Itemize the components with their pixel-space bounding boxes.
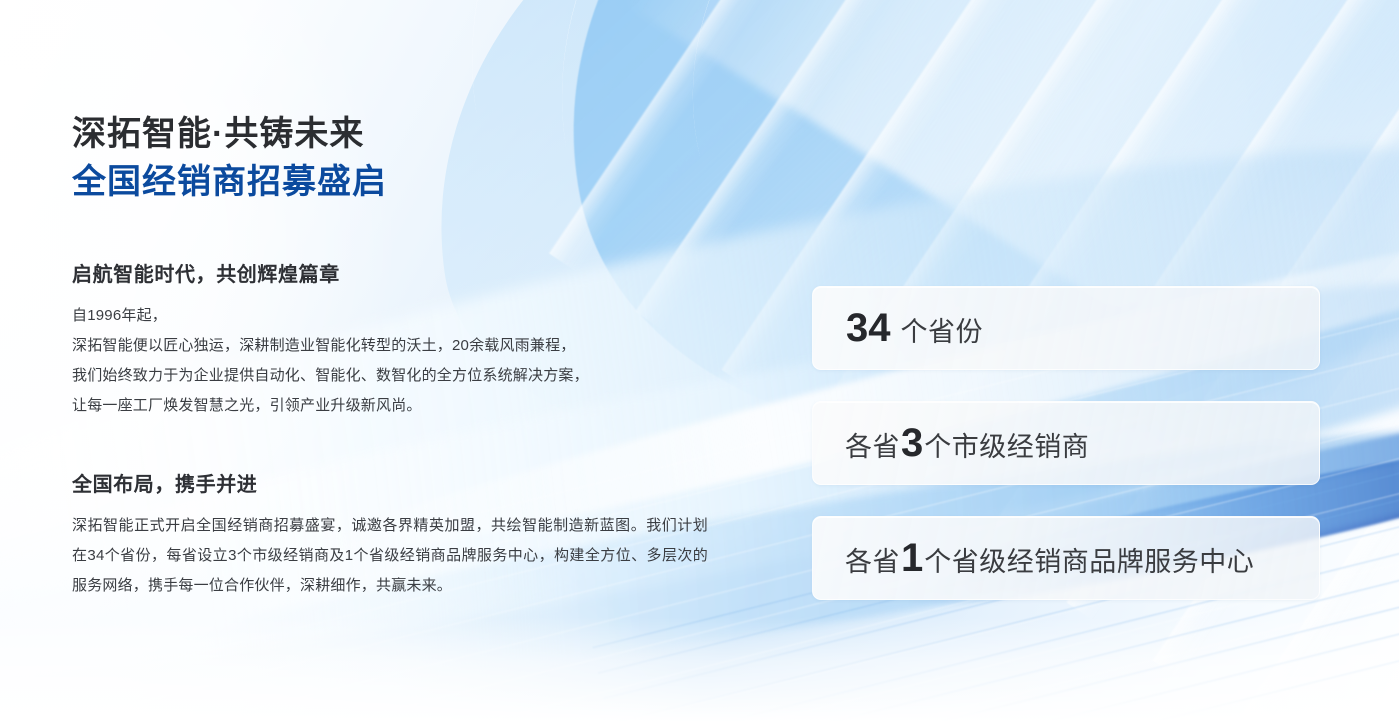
stat-tail-provinces: 个省份 (901, 310, 984, 349)
stat-text-city-dealers: 各省 3 个市级经销商 (845, 421, 1089, 466)
section-network-paragraph: 深拓智能正式开启全国经销商招募盛宴，诚邀各界精英加盟，共绘智能制造新蓝图。我们计… (72, 511, 708, 601)
stat-card-province-service-center: 各省 1 个省级经销商品牌服务中心 (812, 516, 1320, 600)
stat-lead-province-service-center: 各省 (845, 540, 900, 579)
section-network-title: 全国布局，携手并进 (72, 468, 708, 497)
headline-line-1: 深拓智能·共铸未来 (72, 113, 387, 157)
section-about: 启航智能时代，共创辉煌篇章 自1996年起， 深拓智能便以匠心独运，深耕制造业智… (72, 258, 589, 421)
stat-card-list: 34 个省份 各省 3 个市级经销商 各省 1 个省级经销商品牌服务中心 (812, 286, 1320, 600)
banner-content: 深拓智能·共铸未来 全国经销商招募盛启 启航智能时代，共创辉煌篇章 自1996年… (0, 0, 1399, 727)
stat-card-provinces: 34 个省份 (812, 286, 1320, 370)
stat-tail-province-service-center: 个省级经销商品牌服务中心 (924, 540, 1254, 579)
section-about-line-4: 让每一座工厂焕发智慧之光，引领产业升级新风尚。 (72, 391, 589, 421)
stat-tail-city-dealers: 个市级经销商 (924, 425, 1089, 464)
stat-lead-city-dealers: 各省 (845, 425, 900, 464)
stat-number-city-dealers: 3 (901, 421, 923, 466)
section-about-line-3: 我们始终致力于为企业提供自动化、智能化、数智化的全方位系统解决方案， (72, 361, 589, 391)
headline-line-2: 全国经销商招募盛启 (72, 161, 387, 205)
stat-number-province-service-center: 1 (901, 536, 923, 581)
section-about-title: 启航智能时代，共创辉煌篇章 (72, 258, 589, 287)
section-about-body: 自1996年起， 深拓智能便以匠心独运，深耕制造业智能化转型的沃土，20余载风雨… (72, 301, 589, 421)
stat-text-province-service-center: 各省 1 个省级经销商品牌服务中心 (845, 536, 1254, 581)
section-about-line-1: 自1996年起， (72, 301, 589, 331)
section-network: 全国布局，携手并进 深拓智能正式开启全国经销商招募盛宴，诚邀各界精英加盟，共绘智… (72, 468, 708, 601)
stat-text-provinces: 34 个省份 (845, 306, 983, 351)
stat-number-provinces: 34 (846, 306, 891, 351)
section-about-line-2: 深拓智能便以匠心独运，深耕制造业智能化转型的沃土，20余载风雨兼程， (72, 331, 589, 361)
stat-card-city-dealers: 各省 3 个市级经销商 (812, 401, 1320, 485)
promo-banner: 深拓智能·共铸未来 全国经销商招募盛启 启航智能时代，共创辉煌篇章 自1996年… (0, 0, 1399, 727)
headline-block: 深拓智能·共铸未来 全国经销商招募盛启 (72, 113, 387, 204)
section-network-body: 深拓智能正式开启全国经销商招募盛宴，诚邀各界精英加盟，共绘智能制造新蓝图。我们计… (72, 511, 708, 601)
